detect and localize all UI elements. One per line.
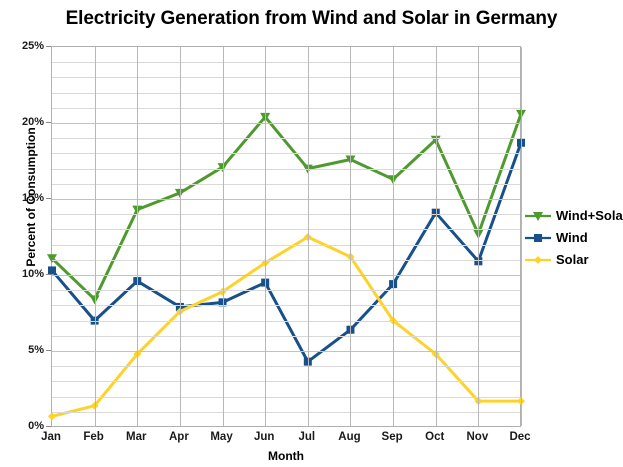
gridline-horizontal-minor [52,321,520,322]
legend-swatch-square-icon [524,231,552,245]
y-axis-tick-mark [46,350,51,351]
y-axis-tick-label: 25% [0,40,44,52]
data-point-marker [534,256,542,264]
gridline-horizontal-minor [52,138,520,139]
gridline-vertical [95,47,96,426]
y-axis-tick-mark [46,274,51,275]
legend-label: Solar [556,253,589,267]
gridline-horizontal-minor [52,366,520,367]
y-axis-tick-mark [46,198,51,199]
legend-label: Wind+Solar [556,209,623,223]
x-axis-tick-label-dec: Dec [490,431,550,443]
legend-label: Wind [556,231,588,245]
gridline-vertical [436,47,437,426]
series-lines [52,47,522,428]
legend-swatch-diamond-icon [524,253,552,267]
gridline-horizontal-major [52,199,520,200]
gridline-horizontal-minor [52,184,520,185]
x-axis-title: Month [51,449,521,463]
gridline-vertical [223,47,224,426]
plot-inner [52,47,520,426]
gridline-vertical [137,47,138,426]
gridline-vertical [521,47,522,426]
gridline-horizontal-minor [52,169,520,170]
gridline-horizontal-minor [52,397,520,398]
gridline-horizontal-minor [52,93,520,94]
series-wind [48,139,525,366]
gridline-horizontal-minor [52,305,520,306]
gridline-horizontal-minor [52,381,520,382]
legend-swatch-triangle-down-icon [524,209,552,223]
gridline-horizontal-minor [52,62,520,63]
gridline-horizontal-minor [52,290,520,291]
gridline-vertical [308,47,309,426]
gridline-horizontal-minor [52,108,520,109]
y-axis-tick-mark [46,46,51,47]
series-line [52,237,521,416]
gridline-horizontal-major [52,275,520,276]
y-axis-tick-mark [46,426,51,427]
data-point-marker [534,234,542,242]
gridline-horizontal-major [52,351,520,352]
gridline-horizontal-minor [52,412,520,413]
y-axis-tick-mark [46,122,51,123]
gridline-horizontal-minor [52,336,520,337]
legend-item-wind-plus-solar[interactable]: Wind+Solar [524,206,623,225]
chart-title: Electricity Generation from Wind and Sol… [0,8,623,30]
gridline-vertical [265,47,266,426]
gridline-horizontal-minor [52,214,520,215]
gridline-horizontal-minor [52,153,520,154]
gridline-horizontal-minor [52,260,520,261]
legend-item-wind[interactable]: Wind [524,228,623,247]
series-line [52,114,521,299]
gridline-horizontal-major [52,123,520,124]
y-axis-title: Percent of Consumption [24,77,38,317]
gridline-vertical [393,47,394,426]
legend: Wind+SolarWindSolar [524,206,623,269]
y-axis-tick-label: 5% [0,344,44,356]
gridline-horizontal-minor [52,245,520,246]
gridline-horizontal-minor [52,229,520,230]
series-solar [48,233,525,420]
chart-root: Electricity Generation from Wind and Sol… [0,0,623,467]
gridline-vertical [478,47,479,426]
gridline-horizontal-minor [52,77,520,78]
gridline-vertical [350,47,351,426]
legend-item-solar[interactable]: Solar [524,250,623,269]
plot-area [51,46,521,427]
data-point-marker [48,412,56,420]
gridline-vertical [180,47,181,426]
